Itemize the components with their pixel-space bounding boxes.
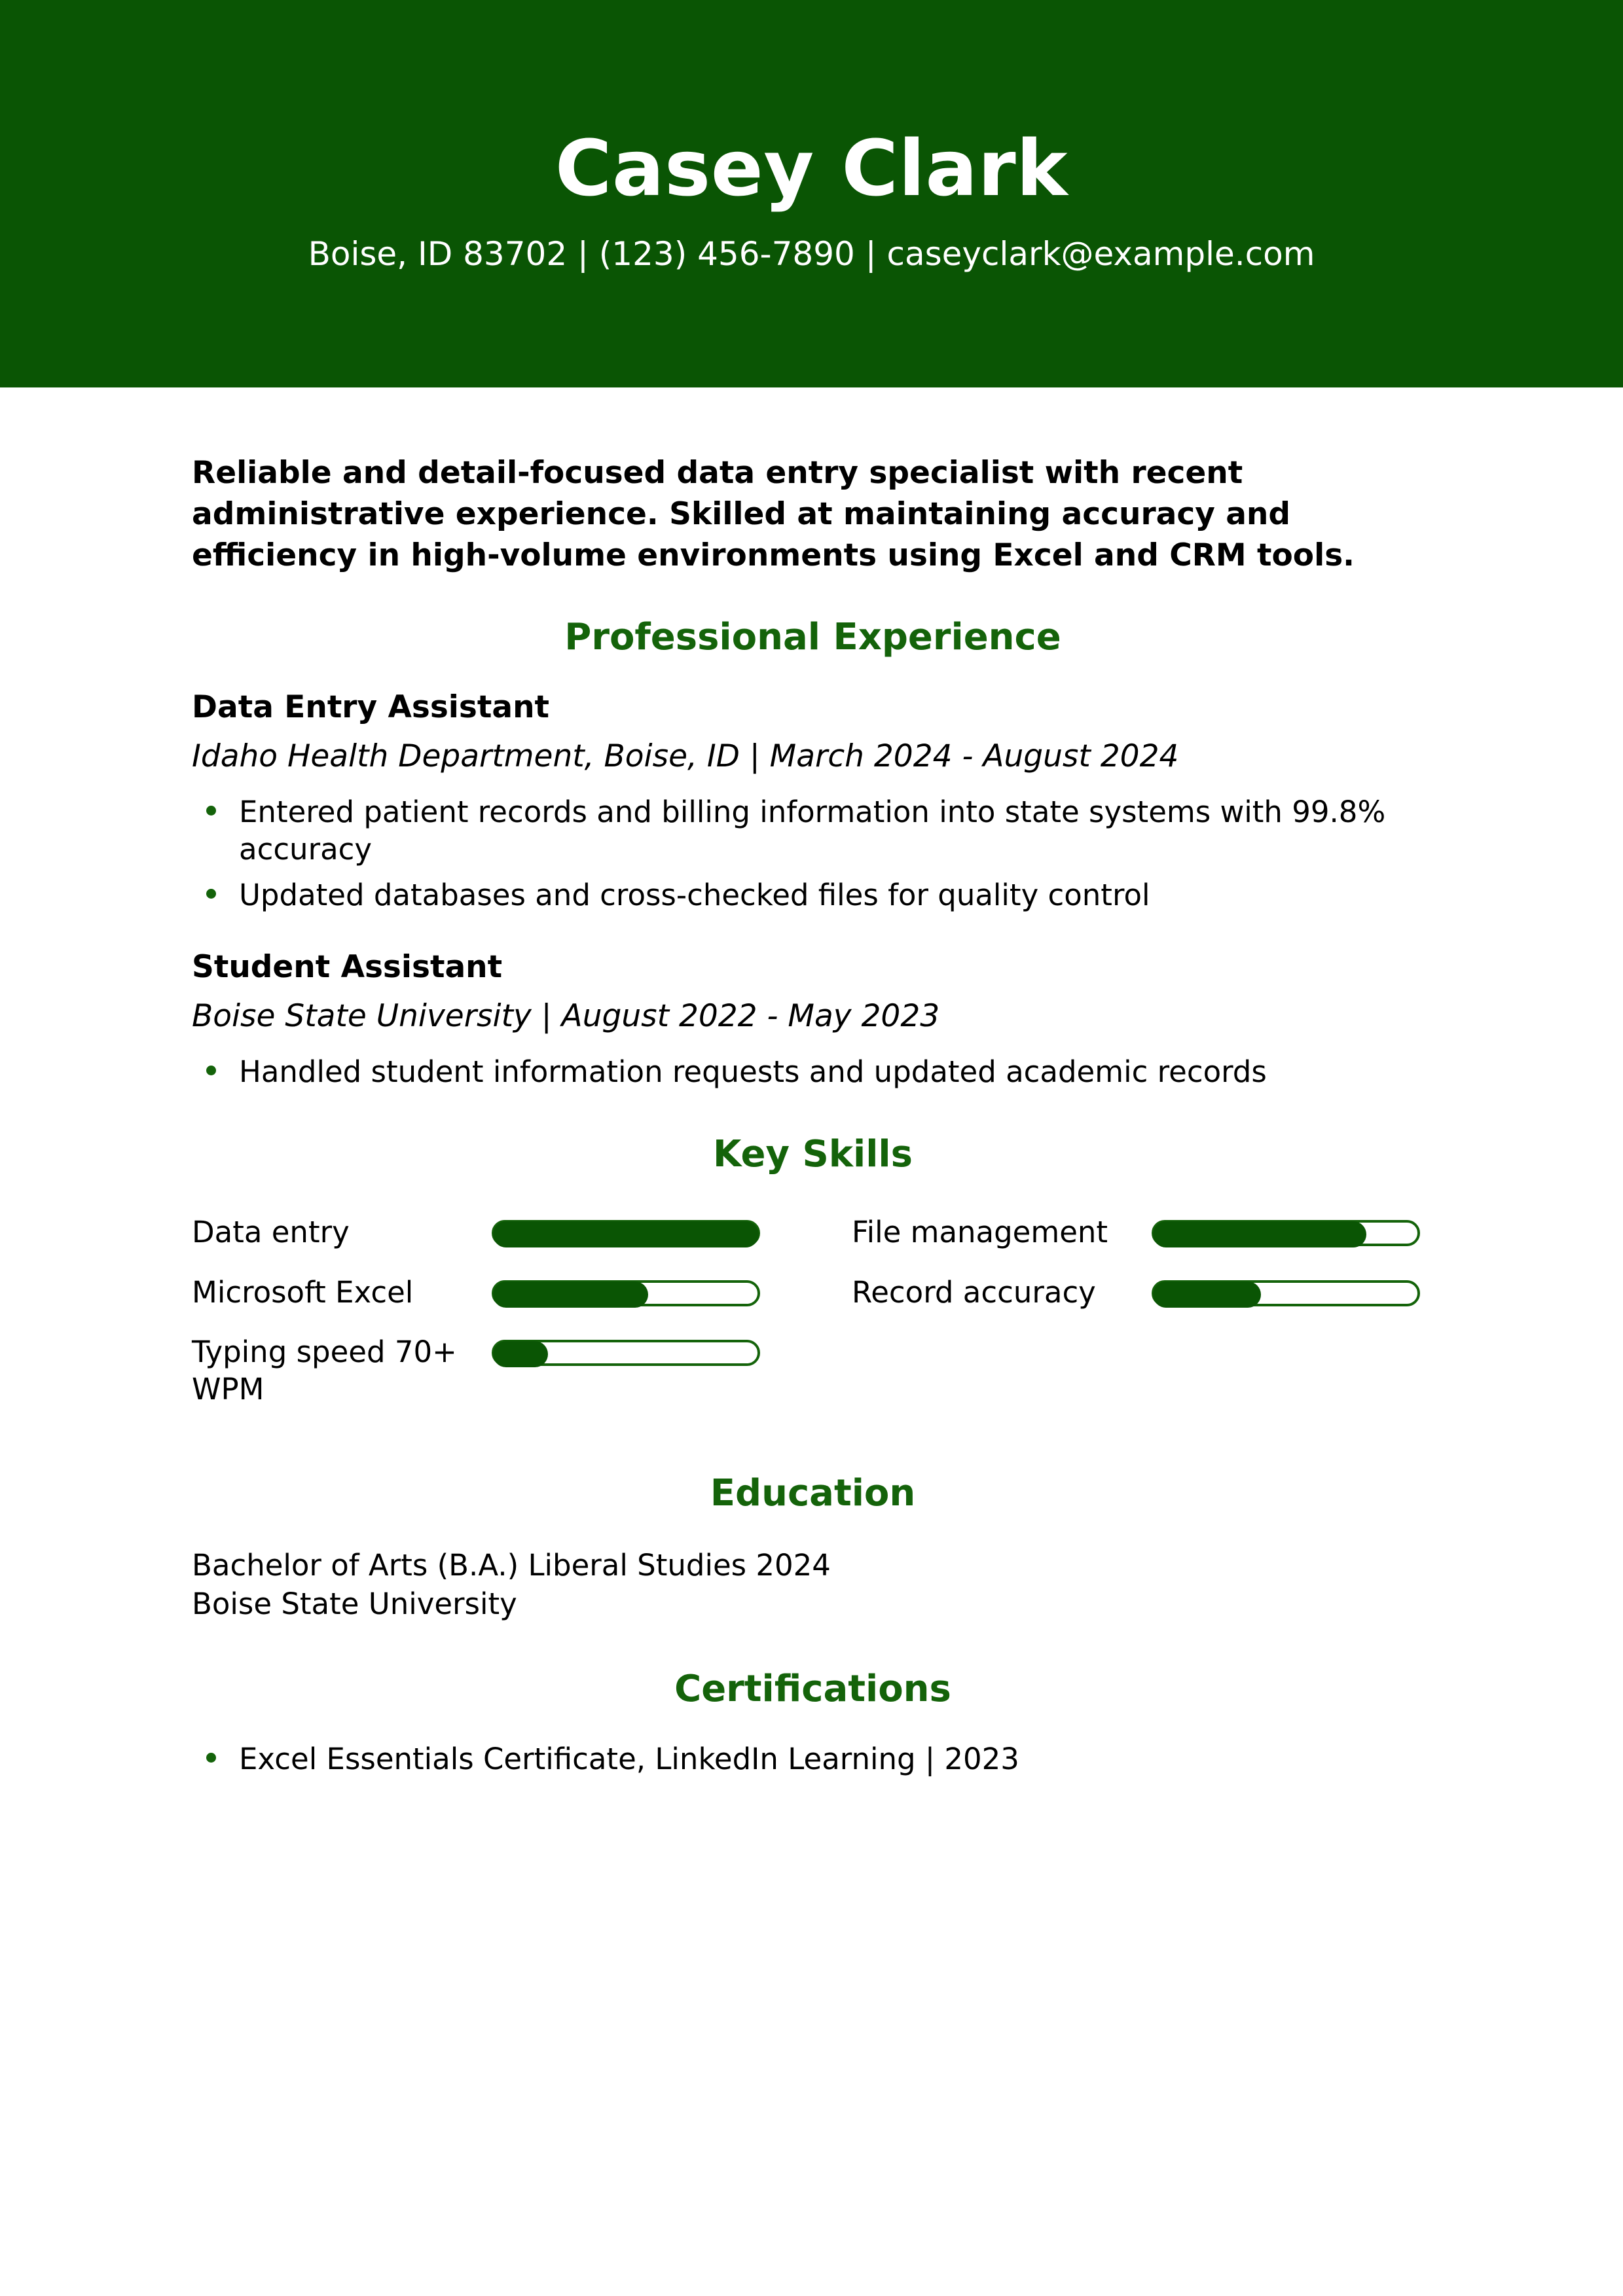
bullet-dot-icon (206, 889, 216, 899)
experience-entry: Student Assistant Boise State University… (192, 952, 1434, 1090)
candidate-name: Casey Clark (555, 130, 1068, 207)
skill-level-fill (493, 1221, 759, 1247)
job-bullet-list: Entered patient records and billing info… (192, 793, 1434, 914)
resume-header-band: Casey Clark Boise, ID 83702 | (123) 456-… (0, 0, 1623, 387)
skill-label: Data entry (192, 1210, 492, 1269)
section-heading-key-skills: Key Skills (192, 1136, 1434, 1173)
education-school: Boise State University (192, 1585, 1434, 1623)
job-meta: Idaho Health Department, Boise, ID | Mar… (192, 741, 1434, 772)
job-meta: Boise State University | August 2022 - M… (192, 1001, 1434, 1031)
bullet-text: Handled student information requests and… (239, 1054, 1267, 1089)
skill-label: Record accuracy (852, 1270, 1152, 1329)
professional-summary: Reliable and detail-focused data entry s… (192, 453, 1357, 577)
bullet-dot-icon (206, 1066, 216, 1075)
skills-grid: Data entry File management Microsoft Exc… (192, 1210, 1434, 1426)
bullet-text: Entered patient records and billing info… (239, 795, 1385, 867)
skill-label: Microsoft Excel (192, 1270, 492, 1329)
skill-level-bar (492, 1280, 760, 1306)
section-heading-experience: Professional Experience (192, 619, 1434, 656)
skill-level-fill (1153, 1282, 1261, 1308)
skill-label: File management (852, 1210, 1152, 1269)
skill-level-fill (493, 1282, 648, 1308)
skill-level-bar (1152, 1280, 1420, 1306)
certification-text: Excel Essentials Certificate, LinkedIn L… (239, 1742, 1019, 1776)
job-title: Data Entry Assistant (192, 692, 1434, 723)
certifications-list: Excel Essentials Certificate, LinkedIn L… (192, 1740, 1434, 1778)
skill-bar-cell (1152, 1210, 1446, 1265)
list-item: Excel Essentials Certificate, LinkedIn L… (192, 1740, 1434, 1778)
job-bullet-list: Handled student information requests and… (192, 1053, 1434, 1090)
section-heading-education: Education (192, 1475, 1434, 1512)
skill-level-bar (492, 1220, 760, 1246)
skill-level-fill (493, 1341, 548, 1367)
bullet-dot-icon (206, 1753, 216, 1763)
skill-bar-cell (492, 1270, 786, 1325)
list-item: Entered patient records and billing info… (192, 793, 1434, 868)
job-title: Student Assistant (192, 952, 1434, 982)
skill-level-bar (492, 1340, 760, 1366)
list-item: Updated databases and cross-checked file… (192, 876, 1434, 914)
skill-bar-cell (492, 1329, 786, 1384)
skill-level-bar (1152, 1220, 1420, 1246)
bullet-text: Updated databases and cross-checked file… (239, 878, 1150, 912)
education-degree: Bachelor of Arts (B.A.) Liberal Studies … (192, 1546, 1434, 1585)
resume-body: Reliable and detail-focused data entry s… (0, 387, 1623, 1778)
experience-entry: Data Entry Assistant Idaho Health Depart… (192, 692, 1434, 914)
skill-label: Typing speed 70+ WPM (192, 1329, 492, 1426)
bullet-dot-icon (206, 806, 216, 816)
skill-level-fill (1153, 1221, 1366, 1247)
education-entry: Bachelor of Arts (B.A.) Liberal Studies … (192, 1546, 1434, 1624)
section-heading-certifications: Certifications (192, 1671, 1434, 1708)
list-item: Handled student information requests and… (192, 1053, 1434, 1090)
skill-bar-cell (492, 1210, 786, 1265)
skill-bar-cell (1152, 1270, 1446, 1325)
contact-line: Boise, ID 83702 | (123) 456-7890 | casey… (308, 238, 1315, 270)
